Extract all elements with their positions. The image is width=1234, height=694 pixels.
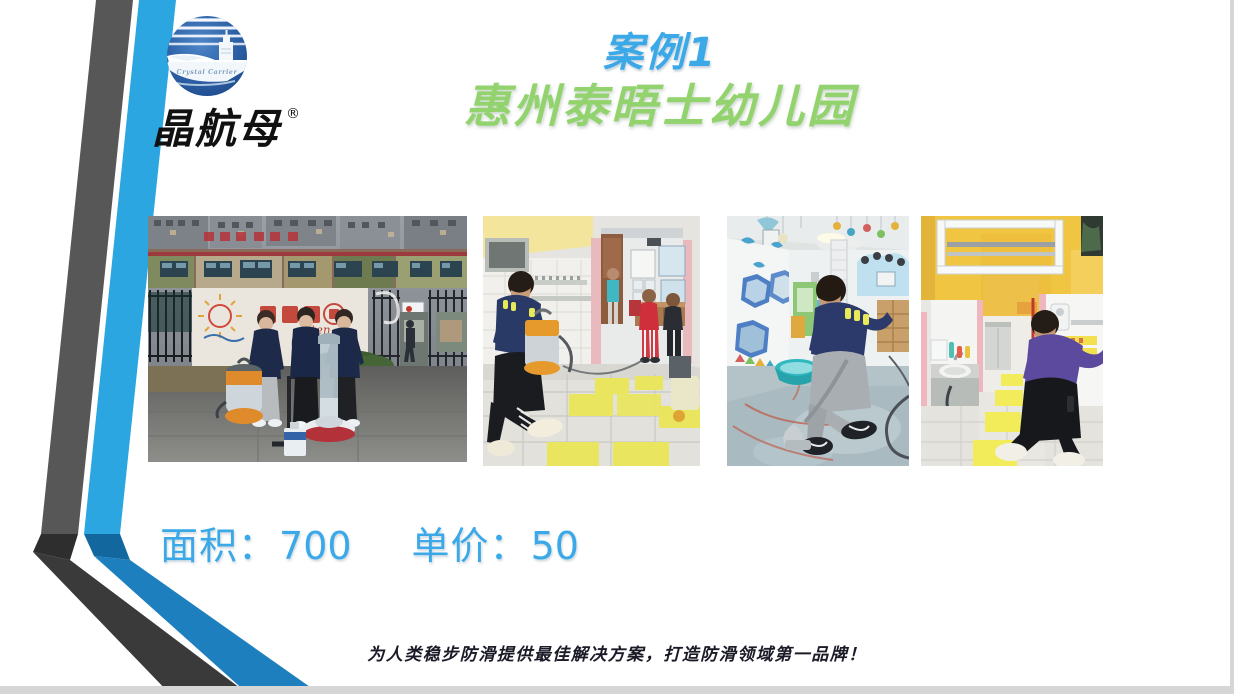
brand-logo: Crystal Carrier 晶航母 ® (150, 4, 325, 164)
logo-en-text: Crystal Carrier (177, 69, 238, 76)
slide-canvas: Crystal Carrier 晶航母 ® 案例1 惠州泰晤士幼儿园 (0, 0, 1234, 694)
stat-unit-price-label: 单价： (412, 524, 529, 568)
chevron-bend-blue (84, 534, 130, 560)
ship-emblem-icon: Crystal Carrier (157, 4, 257, 104)
brand-wordmark: 晶航母 ® (150, 96, 325, 158)
photo-classroom-image (727, 216, 909, 466)
photo-entrance: arten (148, 216, 467, 462)
stat-unit-price: 单价：50 (412, 515, 579, 570)
footer-slogan: 为人类稳步防滑提供最佳解决方案，打造防滑领域第一品牌！ (367, 640, 867, 665)
page-title-name: 惠州泰晤士幼儿园 (400, 77, 920, 137)
photo-bathroom-image (921, 216, 1103, 466)
slide-bottom-edge (0, 686, 1234, 694)
registered-mark: ® (286, 106, 300, 122)
slide-right-edge (1230, 0, 1234, 694)
photo-corridor (483, 216, 700, 466)
stat-area: 面积：700 (160, 515, 352, 570)
stat-unit-price-value: 50 (529, 524, 579, 568)
photo-bathroom (921, 216, 1103, 466)
photo-classroom (727, 216, 909, 466)
stat-area-value: 700 (277, 524, 352, 568)
brand-wordmark-cn: 晶航母 (152, 105, 283, 153)
stats-row: 面积：700 单价：50 (160, 512, 800, 572)
title-block: 案例1 惠州泰晤士幼儿园 (400, 30, 920, 137)
stat-area-label: 面积： (160, 524, 277, 568)
photo-entrance-image: arten (148, 216, 467, 462)
photo-corridor-image (483, 216, 700, 466)
page-title-case: 案例1 (400, 30, 920, 77)
footer: 为人类稳步防滑提供最佳解决方案，打造防滑领域第一品牌！ (0, 640, 1234, 665)
photo-gallery: arten (148, 216, 1108, 474)
photo4-rack (937, 220, 1063, 274)
